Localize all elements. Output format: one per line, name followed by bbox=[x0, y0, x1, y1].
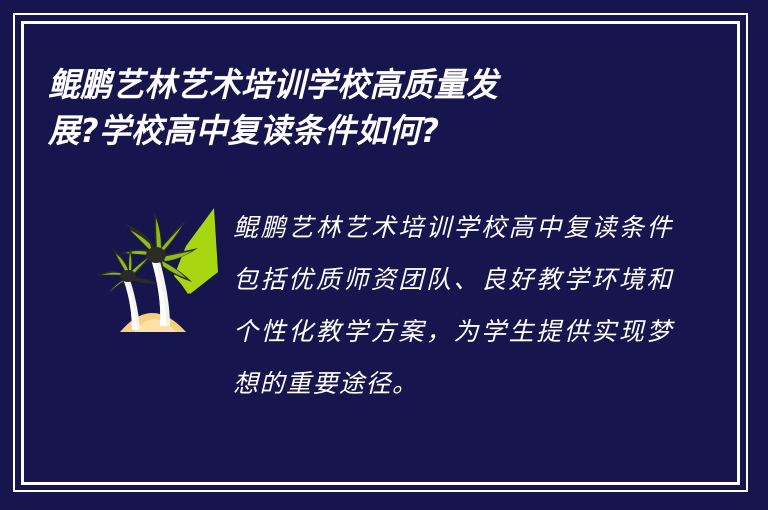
body-area: 鲲鹏艺林艺术培训学校高中复读条件包括优质师资团队、良好教学环境和个性化教学方案，… bbox=[40, 190, 730, 420]
poster-canvas: 鲲鹏艺林艺术培训学校高质量发 展?学校高中复读条件如何? bbox=[0, 0, 768, 510]
title-line-1: 鲲鹏艺林艺术培训学校高质量发 bbox=[48, 62, 643, 108]
bright-leaf-shape bbox=[174, 208, 218, 294]
page-title: 鲲鹏艺林艺术培训学校高质量发 展?学校高中复读条件如何? bbox=[48, 62, 668, 154]
body-paragraph: 鲲鹏艺林艺术培训学校高中复读条件包括优质师资团队、良好教学环境和个性化教学方案，… bbox=[233, 202, 673, 410]
title-line-2: 展?学校高中复读条件如何? bbox=[48, 108, 643, 154]
palm-tree-island-icon bbox=[82, 198, 222, 338]
sand-mound bbox=[120, 313, 186, 332]
